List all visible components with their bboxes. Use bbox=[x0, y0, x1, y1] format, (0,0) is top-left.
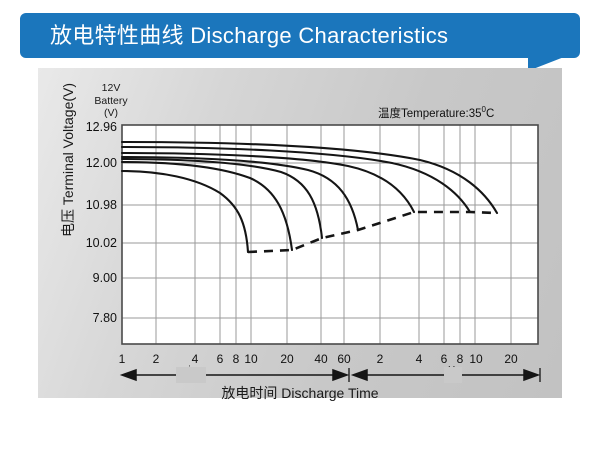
y-tick-label-0: 12.96 bbox=[55, 120, 117, 134]
unit-header-line-1: Battery bbox=[82, 95, 140, 108]
x-tick-label-hr-0: 2 bbox=[365, 352, 395, 366]
x-tick-label-hr-4: 10 bbox=[461, 352, 491, 366]
temperature-annotation-suffix: C bbox=[486, 108, 494, 120]
curve-label-0.05c: 0.05C bbox=[508, 210, 531, 220]
curve-label-2c: 2C bbox=[245, 255, 256, 265]
y-axis-unit-header: 12V Battery (V) bbox=[82, 82, 140, 120]
x-tick-label-min-5: 10 bbox=[236, 352, 266, 366]
y-tick-label-4: 9.00 bbox=[55, 271, 117, 285]
curve-label-0.19c: 0.19C bbox=[424, 219, 447, 229]
unit-header-line-2: (V) bbox=[82, 107, 140, 120]
y-tick-label-1: 12.00 bbox=[55, 156, 117, 170]
curve-label-0.6c: 0.6C bbox=[340, 238, 358, 248]
unit-header-line-0: 12V bbox=[82, 82, 140, 95]
temperature-annotation-prefix: 温度Temperature:35 bbox=[378, 108, 482, 120]
hours-scale-label: H bbox=[448, 365, 455, 376]
curve-label-1c: 1C bbox=[292, 252, 303, 262]
x-axis-title: 放电时间 Discharge Time bbox=[0, 383, 600, 403]
minutes-scale-label: min bbox=[180, 365, 196, 376]
x-tick-label-min-8: 60 bbox=[329, 352, 359, 366]
page-title: 放电特性曲线 Discharge Characteristics bbox=[50, 13, 448, 58]
curve-label-0.4c: 0.4C bbox=[370, 230, 388, 240]
x-tick-label-hr-5: 20 bbox=[496, 352, 526, 366]
y-tick-label-3: 10.02 bbox=[55, 236, 117, 250]
x-tick-label-min-6: 20 bbox=[272, 352, 302, 366]
temperature-annotation: 温度Temperature:350C bbox=[378, 105, 494, 121]
y-tick-label-5: 7.80 bbox=[55, 311, 117, 325]
curve-label-0.089c: 0.089C bbox=[470, 207, 497, 217]
title-banner: 放电特性曲线 Discharge Characteristics bbox=[20, 13, 580, 58]
x-tick-label-min-0: 1 bbox=[107, 352, 137, 366]
x-tick-label-min-1: 2 bbox=[141, 352, 171, 366]
y-tick-label-2: 10.98 bbox=[55, 198, 117, 212]
